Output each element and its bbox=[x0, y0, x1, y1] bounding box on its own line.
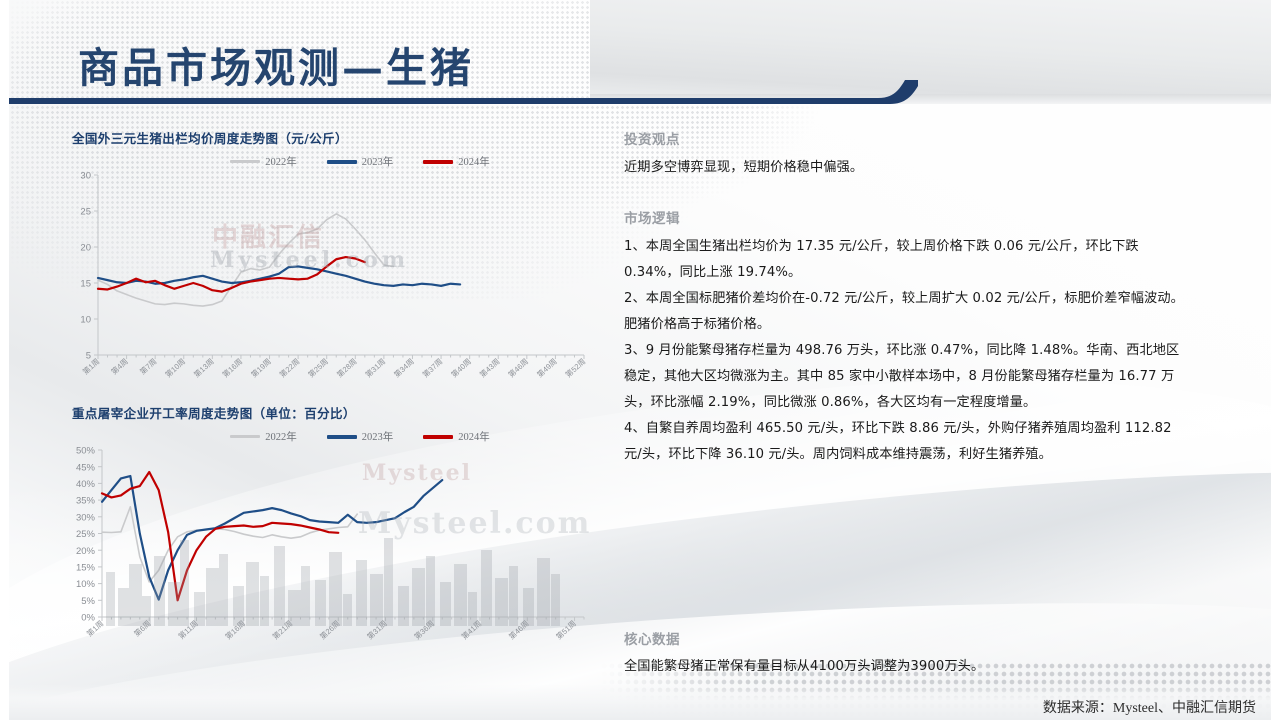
chart-1-plot: 51015202530第1周第4周第7周第10周第13周第16周第19周第22周… bbox=[62, 169, 602, 399]
commentary-panel: 投资观点 近期多空博弈显现，短期价格稳中偏强。 市场逻辑 1、本周全国生猪出栏均… bbox=[624, 128, 1184, 688]
svg-text:15: 15 bbox=[80, 279, 91, 290]
svg-text:40%: 40% bbox=[76, 479, 96, 490]
svg-text:第22周: 第22周 bbox=[277, 356, 301, 379]
svg-text:5%: 5% bbox=[81, 596, 95, 607]
core-data-block: 核心数据 全国能繁母猪正常保有量目标从4100万头调整为3900万头。 bbox=[624, 628, 1184, 680]
legend2-swatch-2022 bbox=[230, 435, 260, 438]
svg-text:第52周: 第52周 bbox=[563, 356, 587, 379]
legend2-swatch-2023 bbox=[327, 435, 357, 439]
investment-view-body: 近期多空博弈显现，短期价格稳中偏强。 bbox=[624, 155, 1184, 181]
city-skyline-decoration bbox=[102, 530, 572, 626]
chart-hog-price: 全国外三元生猪出栏均价周度走势图（元/公斤） 2022年 2023年 2024年… bbox=[62, 128, 602, 399]
slide-canvas: 商品市场观测—生猪 全国外三元生猪出栏均价周度走势图（元/公斤） 2022年 2… bbox=[0, 0, 1280, 720]
page-title: 商品市场观测—生猪 bbox=[78, 34, 474, 94]
legend-label-2024: 2024年 bbox=[458, 154, 490, 169]
svg-text:第46周: 第46周 bbox=[506, 356, 530, 379]
chart-1-title: 全国外三元生猪出栏均价周度走势图（元/公斤） bbox=[72, 128, 602, 147]
svg-text:50%: 50% bbox=[76, 446, 96, 457]
svg-text:5: 5 bbox=[86, 351, 91, 362]
chart-2-title: 重点屠宰企业开工率周度走势图（单位：百分比） bbox=[72, 403, 602, 422]
legend2-item-2022: 2022年 bbox=[230, 429, 297, 444]
legend-swatch-2024 bbox=[423, 160, 453, 164]
svg-text:第10周: 第10周 bbox=[163, 356, 187, 379]
svg-text:第19周: 第19周 bbox=[249, 356, 273, 379]
svg-text:第13周: 第13周 bbox=[191, 356, 215, 379]
legend-label-2023: 2023年 bbox=[362, 154, 394, 169]
legend2-item-2023: 2023年 bbox=[327, 429, 394, 444]
slide-header: 商品市场观测—生猪 bbox=[0, 0, 1280, 130]
legend-swatch-2022 bbox=[230, 160, 260, 163]
chart-2-legend: 2022年 2023年 2024年 bbox=[118, 429, 602, 444]
slide-left-margin bbox=[0, 0, 9, 720]
charts-column: 全国外三元生猪出栏均价周度走势图（元/公斤） 2022年 2023年 2024年… bbox=[62, 128, 602, 688]
svg-text:0%: 0% bbox=[81, 613, 95, 624]
chart-2-plot: 0%5%10%15%20%25%30%35%40%45%50%第1周第6周第11… bbox=[62, 444, 602, 659]
legend-item-2024: 2024年 bbox=[423, 154, 490, 169]
svg-text:10%: 10% bbox=[76, 579, 96, 590]
svg-text:第43周: 第43周 bbox=[477, 356, 501, 379]
svg-text:10: 10 bbox=[80, 315, 91, 326]
svg-text:30: 30 bbox=[80, 171, 91, 182]
svg-text:第49周: 第49周 bbox=[534, 356, 558, 379]
market-logic-item-3: 3、9 月份能繁母猪存栏量为 498.76 万头，环比涨 0.47%，同比降 1… bbox=[624, 338, 1184, 416]
svg-text:第16周: 第16周 bbox=[220, 356, 244, 379]
data-source-note: 数据来源：Mysteel、中融汇信期货 bbox=[1043, 697, 1256, 717]
core-data-heading: 核心数据 bbox=[624, 628, 1184, 648]
svg-text:25%: 25% bbox=[76, 529, 96, 540]
svg-text:15%: 15% bbox=[76, 563, 96, 574]
market-logic-heading: 市场逻辑 bbox=[624, 207, 1184, 227]
slide-right-margin bbox=[1271, 0, 1280, 720]
svg-text:25: 25 bbox=[80, 207, 91, 218]
svg-text:45%: 45% bbox=[76, 462, 96, 473]
legend2-label-2024: 2024年 bbox=[458, 429, 490, 444]
legend-label-2022: 2022年 bbox=[265, 154, 297, 169]
chart-1-svg: 51015202530第1周第4周第7周第10周第13周第16周第19周第22周… bbox=[62, 169, 592, 399]
market-logic-item-4: 4、自繁自养周均盈利 465.50 元/头，环比下跌 8.86 元/头，外购仔猪… bbox=[624, 416, 1184, 468]
svg-text:第7周: 第7周 bbox=[137, 356, 158, 376]
legend2-item-2024: 2024年 bbox=[423, 429, 490, 444]
legend-item-2023: 2023年 bbox=[327, 154, 394, 169]
chart-1-legend: 2022年 2023年 2024年 bbox=[118, 154, 602, 169]
legend2-swatch-2024 bbox=[423, 435, 453, 439]
svg-text:第4周: 第4周 bbox=[109, 356, 130, 376]
market-logic-item-2: 2、本周全国标肥猪价差均价在-0.72 元/公斤，较上周扩大 0.02 元/公斤… bbox=[624, 286, 1184, 338]
market-logic-item-1: 1、本周全国生猪出栏均价为 17.35 元/公斤，较上周价格下跌 0.06 元/… bbox=[624, 234, 1184, 286]
svg-text:第34周: 第34周 bbox=[392, 356, 416, 379]
svg-text:20: 20 bbox=[80, 243, 91, 254]
core-data-body: 全国能繁母猪正常保有量目标从4100万头调整为3900万头。 bbox=[624, 654, 1184, 680]
svg-text:第28周: 第28周 bbox=[334, 356, 358, 379]
legend2-label-2022: 2022年 bbox=[265, 429, 297, 444]
svg-text:第31周: 第31周 bbox=[363, 356, 387, 379]
svg-text:20%: 20% bbox=[76, 546, 96, 557]
spacer bbox=[624, 181, 1184, 207]
svg-text:第40周: 第40周 bbox=[449, 356, 473, 379]
svg-text:第37周: 第37周 bbox=[420, 356, 444, 379]
legend-item-2022: 2022年 bbox=[230, 154, 297, 169]
chart-slaughter-rate: 重点屠宰企业开工率周度走势图（单位：百分比） 2022年 2023年 2024年… bbox=[62, 403, 602, 659]
svg-text:第25周: 第25周 bbox=[306, 356, 330, 379]
legend2-label-2023: 2023年 bbox=[362, 429, 394, 444]
svg-text:30%: 30% bbox=[76, 512, 96, 523]
svg-text:35%: 35% bbox=[76, 496, 96, 507]
investment-view-heading: 投资观点 bbox=[624, 128, 1184, 148]
legend-swatch-2023 bbox=[327, 160, 357, 164]
